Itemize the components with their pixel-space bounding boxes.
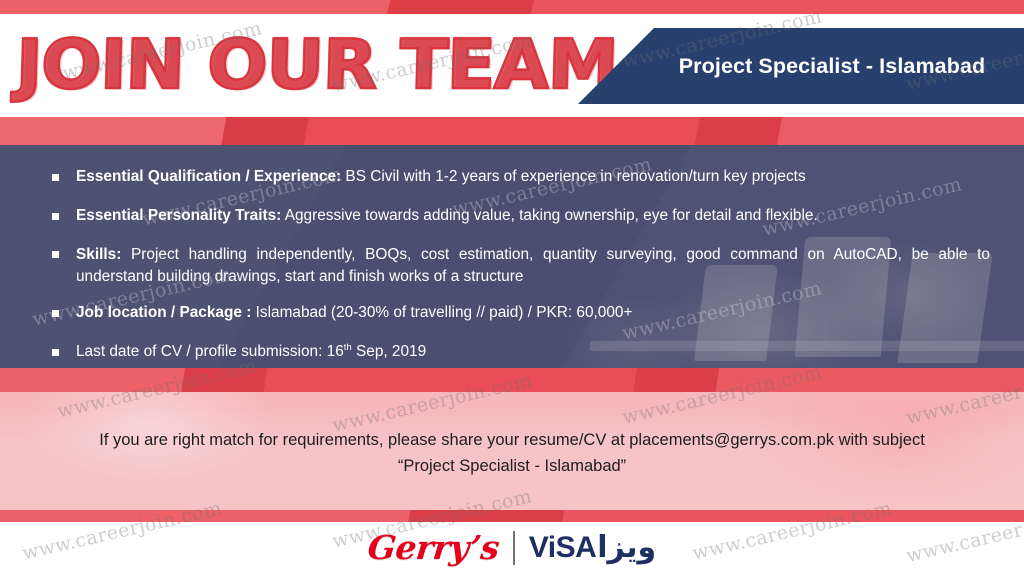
- list-item-text: Aggressive towards adding value, taking …: [281, 207, 817, 224]
- list-item-label: Essential Personality Traits:: [76, 207, 281, 224]
- deadline-ordinal-suffix: th: [344, 342, 352, 353]
- logo-separator: [513, 531, 515, 565]
- job-advertisement-poster: JOIN OUR TEAM Project Specialist - Islam…: [0, 0, 1024, 576]
- divider-red-bottom: [0, 510, 1024, 522]
- gerrys-logo: Gerry’s: [366, 528, 501, 567]
- contact-instructions: If you are right match for requirements,…: [0, 428, 1024, 479]
- divider-red-lower: [0, 368, 1024, 392]
- visa-logo-latin: ViSA: [529, 531, 596, 565]
- deadline-prefix: Last date of CV / profile submission: 16: [76, 343, 344, 360]
- list-item: Essential Qualification / Experience: BS…: [26, 167, 998, 187]
- requirements-panel: Essential Qualification / Experience: BS…: [0, 145, 1024, 368]
- role-banner-label: Project Specialist - Islamabad: [609, 54, 986, 79]
- list-item-text: Islamabad (20-30% of travelling // paid)…: [251, 304, 632, 321]
- requirements-list: Essential Qualification / Experience: BS…: [0, 145, 1024, 368]
- logo-group: Gerry’s ViSAویزا: [0, 528, 1024, 567]
- list-item-label: Essential Qualification / Experience:: [76, 168, 341, 185]
- page-title: JOIN OUR TEAM: [15, 22, 569, 110]
- list-item-deadline: Last date of CV / profile submission: 16…: [26, 342, 998, 362]
- top-red-edge: [0, 0, 1024, 14]
- contact-line-2: “Project Specialist - Islamabad”: [20, 454, 1004, 480]
- list-item-text: Project handling independently, BOQs, co…: [76, 246, 990, 285]
- contact-line-1: If you are right match for requirements,…: [99, 431, 925, 449]
- list-item-label: Skills:: [76, 246, 121, 263]
- deadline-suffix: Sep, 2019: [352, 343, 426, 360]
- visa-logo: ViSAویزا: [529, 530, 656, 565]
- list-item: Job location / Package : Islamabad (20-3…: [26, 303, 998, 323]
- contact-band: If you are right match for requirements,…: [0, 392, 1024, 510]
- list-item: Skills: Project handling independently, …: [26, 244, 998, 288]
- visa-logo-urdu: ویزا: [597, 530, 656, 565]
- list-item: Essential Personality Traits: Aggressive…: [26, 206, 998, 226]
- divider-red-upper: [0, 117, 1024, 145]
- list-item-text: BS Civil with 1-2 years of experience in…: [341, 168, 806, 185]
- list-item-label: Job location / Package :: [76, 304, 251, 321]
- poster-footer: Gerry’s ViSAویزا: [0, 522, 1024, 576]
